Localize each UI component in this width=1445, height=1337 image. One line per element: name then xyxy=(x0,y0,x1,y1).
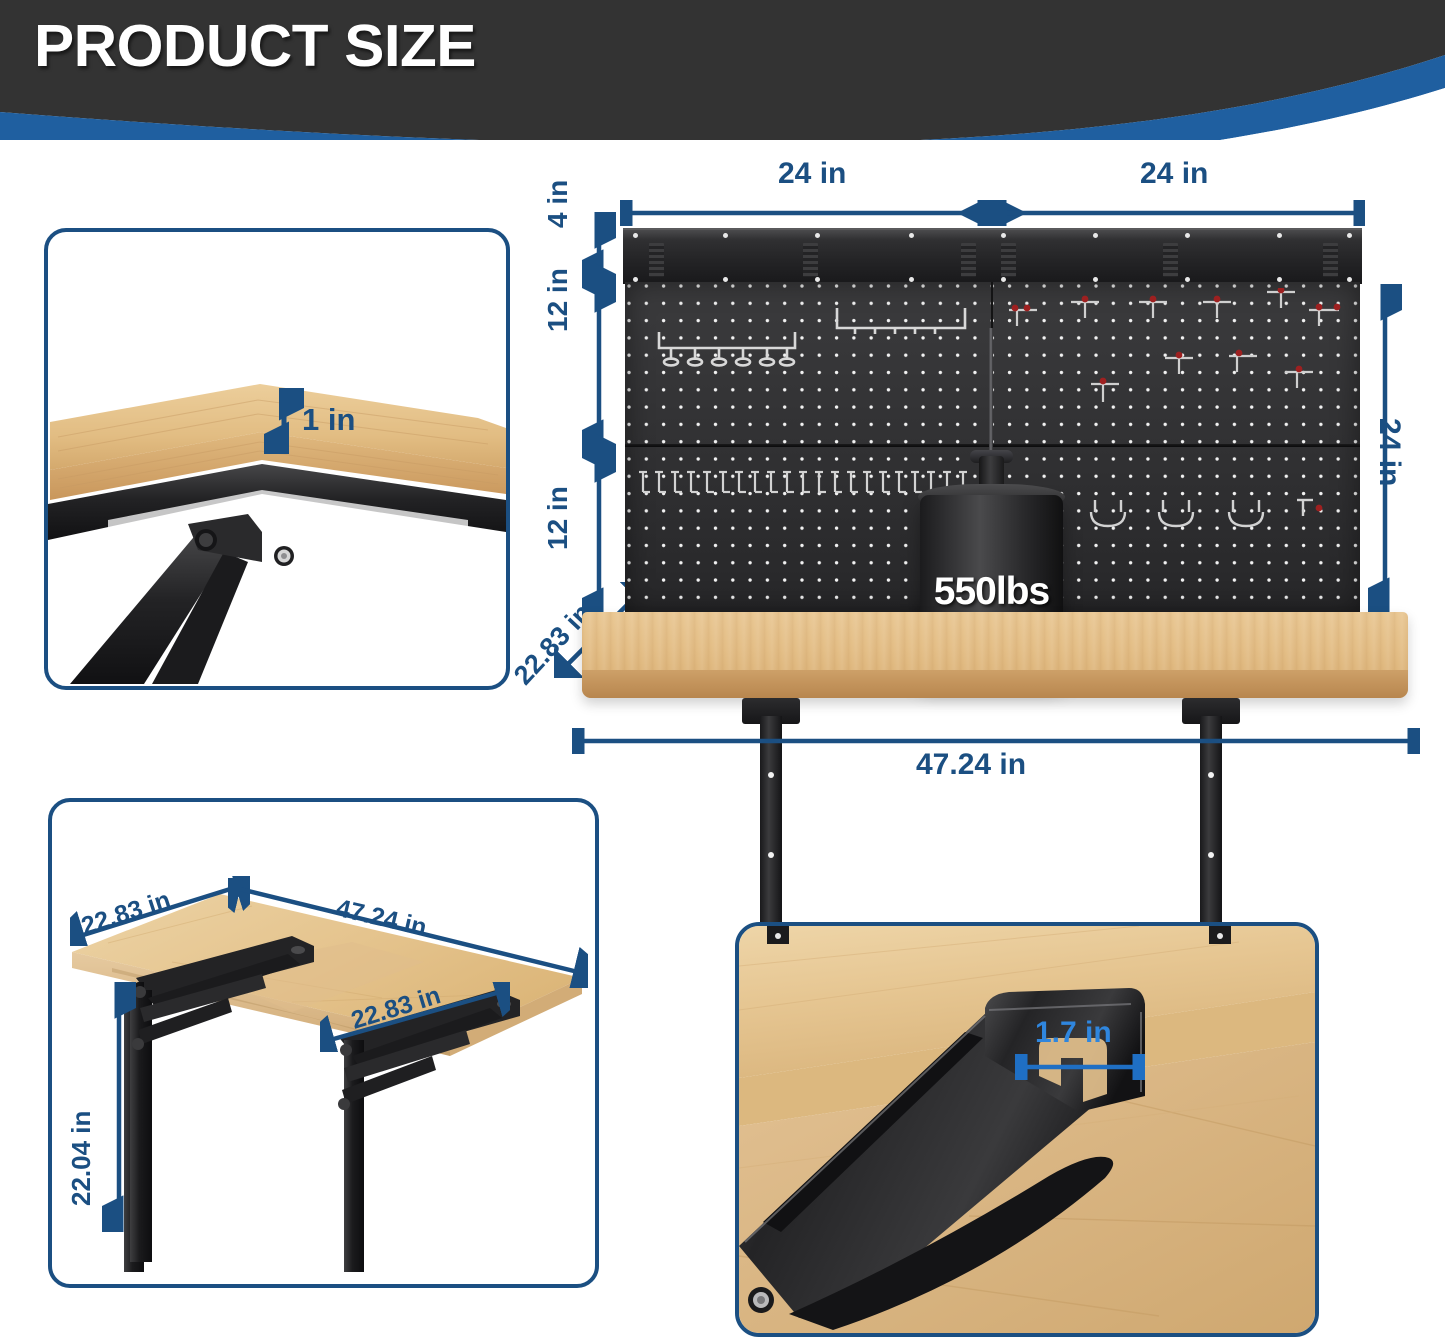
pegboard-mount-rail xyxy=(623,228,1362,284)
bracket-width-arrow xyxy=(1015,1054,1145,1080)
rail-screw-icon xyxy=(1185,233,1190,238)
rail-screw-icon xyxy=(815,233,820,238)
tabletop-closeup-art xyxy=(48,232,506,686)
dimension-label-rail-height: 4 in xyxy=(542,180,574,228)
panel-tabletop-thickness: 1 in xyxy=(44,228,510,690)
pegboard-vertical-arrows xyxy=(582,212,616,624)
pegboard-width-arrows xyxy=(620,200,1365,226)
bracket-overview-illustration: 22.83 in 47.24 in 22.83 in 22.04 in xyxy=(52,802,595,1284)
thickness-arrow xyxy=(264,388,304,454)
bracket-closeup-art xyxy=(739,926,1315,1333)
pegboard-t-hooks-icon xyxy=(997,288,1355,440)
dimension-label-thickness: 1 in xyxy=(302,402,355,438)
workbench-tabletop-edge xyxy=(582,670,1408,698)
dimension-label-pegboard-lower: 12 in xyxy=(542,486,574,550)
rail-screw-icon xyxy=(1277,233,1282,238)
panel-folding-bracket-overview: 22.83 in 47.24 in 22.83 in 22.04 in xyxy=(48,798,599,1288)
dimension-label-leg-height: 22.04 in xyxy=(66,1111,97,1206)
rail-screw-icon xyxy=(1001,233,1006,238)
weight-capacity-badge: 550lbs xyxy=(920,570,1063,614)
rail-clip-icon xyxy=(803,243,818,277)
leg-height-arrow xyxy=(102,982,136,1232)
rail-clip-icon xyxy=(961,243,976,277)
dimension-label-bracket-width: 1.7 in xyxy=(1035,1016,1112,1050)
dimension-label-table-width: 47.24 in xyxy=(916,748,1026,782)
pegboard-basket-hooks-icon xyxy=(1087,498,1337,546)
rail-screw-icon xyxy=(633,233,638,238)
rail-screw-icon xyxy=(723,233,728,238)
rail-screw-icon xyxy=(1093,233,1098,238)
dimension-label-pegboard-width-right: 24 in xyxy=(1140,157,1208,191)
leg-hole-icon xyxy=(768,772,774,778)
pegboard-wide-hook-icon xyxy=(831,304,971,338)
panel-bracket-closeup: 1.7 in xyxy=(735,922,1319,1337)
bracket-closeup-illustration: 1.7 in xyxy=(739,926,1315,1333)
dimension-label-pegboard-width-left: 24 in xyxy=(778,157,846,191)
dimension-label-pegboard-upper: 12 in xyxy=(542,268,574,332)
rail-screw-icon xyxy=(1347,233,1352,238)
weight-hanger-rod xyxy=(989,328,993,458)
tabletop-thickness-illustration: 1 in xyxy=(48,232,506,686)
rail-clip-icon xyxy=(1163,243,1178,277)
header-banner: PRODUCT SIZE xyxy=(0,0,1445,140)
rail-clip-icon xyxy=(1323,243,1338,277)
main-product-illustration: 24 in 24 in 4 in 12 in 12 in xyxy=(520,150,1445,950)
page-title: PRODUCT SIZE xyxy=(34,12,476,80)
rail-clip-icon xyxy=(649,243,664,277)
leg-hole-icon xyxy=(1208,772,1214,778)
leg-hole-icon xyxy=(768,852,774,858)
rail-clip-icon xyxy=(1001,243,1016,277)
dimension-label-pegboard-total-height: 24 in xyxy=(1372,418,1406,486)
pegboard-hook-rack-icon xyxy=(653,324,803,370)
leg-hole-icon xyxy=(1208,852,1214,858)
rail-screw-icon xyxy=(909,233,914,238)
